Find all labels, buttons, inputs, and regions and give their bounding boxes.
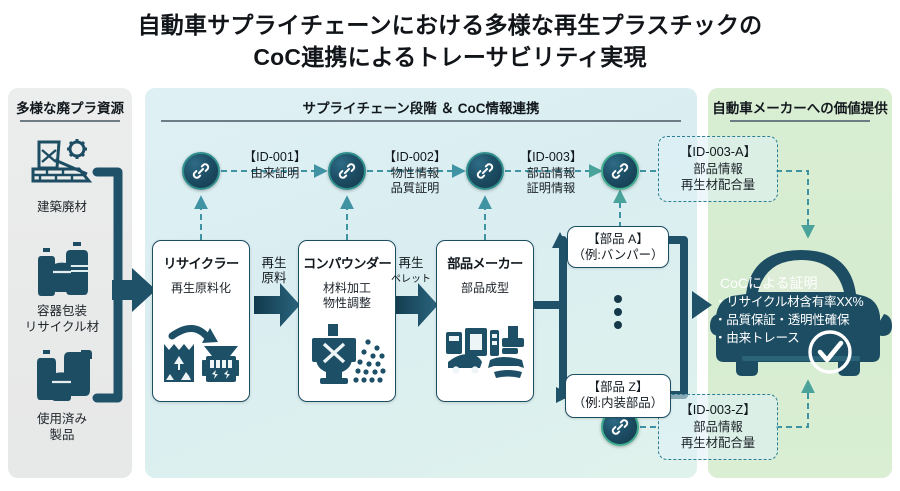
process-box-parts-maker[interactable]: 部品メーカー 部品成型 <box>436 240 534 402</box>
part-a-example: （例:バンパー） <box>568 248 668 264</box>
page-title: 自動車サプライチェーンにおける多様な再生プラスチックの CoC連携によるトレーサ… <box>0 10 900 73</box>
flow-label-recycled-material: 再生 原料 <box>252 256 296 286</box>
process-title-0: リサイクラー <box>153 253 249 272</box>
car-illustration <box>706 228 896 393</box>
process-title-2: 部品メーカー <box>437 253 533 272</box>
source-caption-2: 使用済み 製品 <box>0 412 124 443</box>
process-box-compounder[interactable]: コンパウンダー 材料加工 物性調整 <box>298 240 396 402</box>
part-list-ellipsis <box>614 290 622 334</box>
construction-waste-icon <box>0 136 124 198</box>
process-subtitle-2: 部品成型 <box>437 281 533 296</box>
flow-label-recycled-pellet: 再生 ペレット <box>388 256 434 286</box>
diagram-canvas: 自動車サプライチェーンにおける多様な再生プラスチックの CoC連携によるトレーサ… <box>0 0 900 491</box>
panel-right-heading: 自動車メーカーへの価値提供 <box>708 97 892 117</box>
source-item-0: 建築廃材 <box>0 136 124 216</box>
info-box-id-003-z[interactable]: 【ID-003-Z】 部品情報 再生材配合量 <box>658 394 778 460</box>
panel-right-divider <box>730 120 870 122</box>
source-caption-0: 建築廃材 <box>0 200 124 216</box>
panel-middle-divider <box>161 120 681 122</box>
bottle-packaging-icon <box>0 240 124 302</box>
panel-middle-heading: サプライチェーン段階 ＆ CoC情報連携 <box>145 97 697 117</box>
recycle-plant-icon <box>153 316 249 393</box>
panel-left-heading: 多様な廃プラ資源 <box>8 97 132 117</box>
title-line-1: 自動車サプライチェーンにおける多様な再生プラスチックの <box>0 10 900 42</box>
part-z-code: 【部品 Z】 <box>566 380 670 396</box>
chain-link-icon <box>610 161 630 181</box>
process-subtitle-0: 再生原料化 <box>153 281 249 296</box>
process-title-1: コンパウンダー <box>299 253 395 272</box>
chain-link-node-002[interactable] <box>328 152 366 190</box>
info-box-id-003-a[interactable]: 【ID-003-A】 部品情報 再生材配合量 <box>658 136 778 202</box>
source-item-2: 使用済み 製品 <box>0 348 124 443</box>
part-box-a[interactable]: 【部品 A】 （例:バンパー） <box>567 226 669 268</box>
id-label-001: 【ID-001】 由来証明 <box>226 150 324 181</box>
chain-link-node-001[interactable] <box>182 152 220 190</box>
mixer-pellets-icon <box>299 322 395 393</box>
title-line-2: CoC連携によるトレーサビリティ実現 <box>0 42 900 74</box>
chain-link-node-003-a[interactable] <box>601 152 639 190</box>
id-label-003: 【ID-003】 部品情報 証明情報 <box>502 150 600 196</box>
id-label-002: 【ID-002】 物性情報 品質証明 <box>366 150 464 196</box>
process-subtitle-1: 材料加工 物性調整 <box>299 281 395 312</box>
used-products-icon <box>0 348 124 410</box>
part-z-example: （例:内装部品） <box>566 396 670 412</box>
panel-left-divider <box>20 120 120 122</box>
chain-link-icon <box>191 161 211 181</box>
chain-link-icon <box>610 417 630 437</box>
chain-link-icon <box>337 161 357 181</box>
source-item-1: 容器包装 リサイクル材 <box>0 240 124 335</box>
part-a-code: 【部品 A】 <box>568 232 668 248</box>
source-caption-1: 容器包装 リサイクル材 <box>0 304 124 335</box>
molding-machine-icon <box>437 318 533 393</box>
part-box-z[interactable]: 【部品 Z】 （例:内装部品） <box>565 374 671 418</box>
process-box-recycler[interactable]: リサイクラー 再生原料化 <box>152 240 250 402</box>
chain-link-icon <box>475 161 495 181</box>
chain-link-node-003[interactable] <box>466 152 504 190</box>
